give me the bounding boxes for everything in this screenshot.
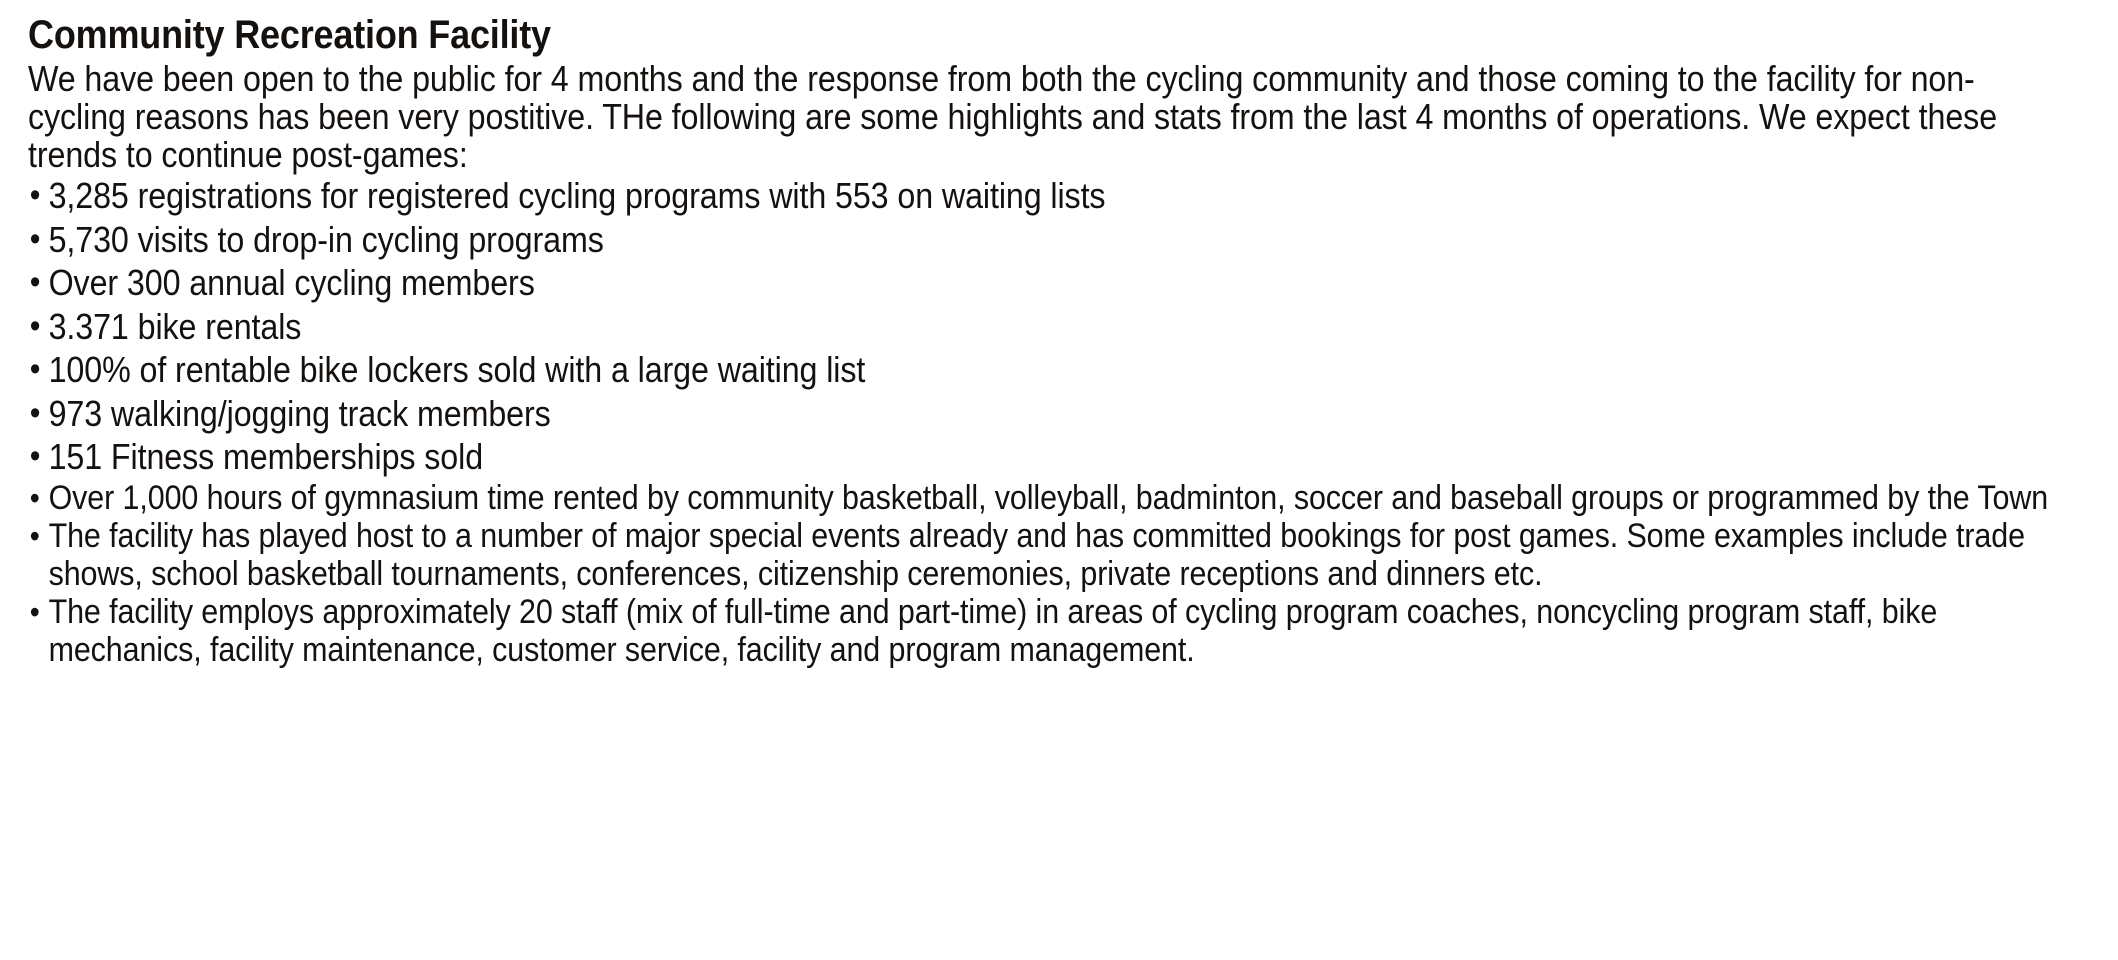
highlights-list: •3,285 registrations for registered cycl…	[28, 174, 2055, 669]
bullet-icon: •	[30, 392, 51, 436]
intro-paragraph: We have been open to the public for 4 mo…	[28, 60, 2055, 174]
bullet-icon: •	[30, 435, 51, 479]
bullet-icon: •	[30, 479, 51, 517]
list-item: •3,285 registrations for registered cycl…	[28, 174, 2055, 218]
list-item-text: 973 walking/jogging track members	[49, 393, 551, 434]
list-item-text: Over 1,000 hours of gymnasium time rente…	[49, 479, 2056, 517]
page-title: Community Recreation Facility	[28, 14, 1855, 56]
bullet-icon: •	[30, 593, 51, 631]
list-item: •151 Fitness memberships sold	[28, 435, 2055, 479]
list-item-text: The facility employs approximately 20 st…	[49, 593, 2056, 669]
list-item: •973 walking/jogging track members	[28, 392, 2055, 436]
list-item: •The facility has played host to a numbe…	[28, 517, 2055, 593]
list-item: •100% of rentable bike lockers sold with…	[28, 348, 2055, 392]
list-item-text: The facility has played host to a number…	[49, 517, 2056, 593]
bullet-icon: •	[30, 517, 51, 555]
list-item: •Over 300 annual cycling members	[28, 261, 2055, 305]
list-item: •Over 1,000 hours of gymnasium time rent…	[28, 479, 2055, 517]
list-item-text: Over 300 annual cycling members	[49, 262, 535, 303]
document-body: Community Recreation Facility We have be…	[28, 14, 2058, 669]
bullet-icon: •	[30, 261, 51, 305]
list-item: •5,730 visits to drop-in cycling program…	[28, 218, 2055, 262]
document-page: Community Recreation Facility We have be…	[0, 0, 2118, 960]
bullet-icon: •	[30, 218, 51, 262]
list-item-text: 100% of rentable bike lockers sold with …	[49, 349, 866, 390]
bullet-icon: •	[30, 305, 51, 349]
list-item-text: 3.371 bike rentals	[49, 306, 302, 347]
list-item-text: 151 Fitness memberships sold	[49, 436, 483, 477]
list-item-text: 3,285 registrations for registered cycli…	[49, 175, 1106, 216]
list-item-text: 5,730 visits to drop-in cycling programs	[49, 219, 604, 260]
bullet-icon: •	[30, 174, 51, 218]
bullet-icon: •	[30, 348, 51, 392]
list-item: •3.371 bike rentals	[28, 305, 2055, 349]
list-item: •The facility employs approximately 20 s…	[28, 593, 2055, 669]
